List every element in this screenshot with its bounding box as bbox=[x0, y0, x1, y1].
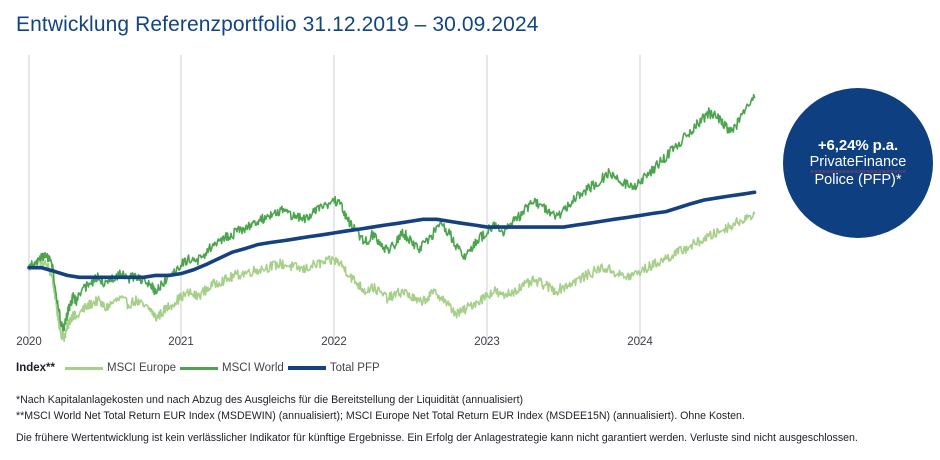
legend-entry-msci-europe[interactable]: MSCI Europe bbox=[65, 362, 176, 374]
footnote-line-2: **MSCI World Net Total Return EUR Index … bbox=[16, 408, 928, 424]
legend-title: Index** bbox=[16, 362, 55, 374]
performance-badge: +6,24% p.a. PrivateFinance Police (PFP)* bbox=[783, 88, 933, 238]
legend-swatch-icon bbox=[288, 366, 326, 370]
chart-legend: Index** MSCI EuropeMSCI WorldTotal PFP bbox=[16, 361, 384, 375]
legend-entry-msci-world[interactable]: MSCI World bbox=[180, 362, 284, 374]
x-tick-label-2024: 2024 bbox=[627, 336, 653, 348]
footnotes: *Nach Kapitalanlagekosten und nach Abzug… bbox=[16, 392, 928, 425]
x-tick-label-2021: 2021 bbox=[168, 336, 194, 348]
page-title: Entwicklung Referenzportfolio 31.12.2019… bbox=[16, 13, 539, 37]
x-tick-label-2023: 2023 bbox=[474, 336, 500, 348]
chart-x-axis: 20202021202220232024 bbox=[0, 336, 940, 356]
disclaimer-text: Die frühere Wertentwicklung ist kein ver… bbox=[16, 432, 858, 444]
legend-label: Total PFP bbox=[330, 362, 380, 374]
legend-swatch-icon bbox=[180, 367, 218, 370]
badge-rate-label: +6,24% p.a. bbox=[818, 137, 898, 155]
badge-brand-label: PrivateFinance bbox=[810, 154, 907, 172]
chart-series-group bbox=[29, 95, 755, 342]
footnote-line-1: *Nach Kapitalanlagekosten und nach Abzug… bbox=[16, 392, 928, 408]
legend-label: MSCI World bbox=[222, 362, 284, 374]
x-tick-label-2022: 2022 bbox=[321, 336, 347, 348]
legend-swatch-icon bbox=[65, 367, 103, 370]
x-tick-label-2020: 2020 bbox=[16, 336, 42, 348]
legend-entry-total-pfp[interactable]: Total PFP bbox=[288, 362, 380, 374]
badge-product-label: Police (PFP)* bbox=[814, 172, 901, 189]
legend-label: MSCI Europe bbox=[107, 362, 176, 374]
